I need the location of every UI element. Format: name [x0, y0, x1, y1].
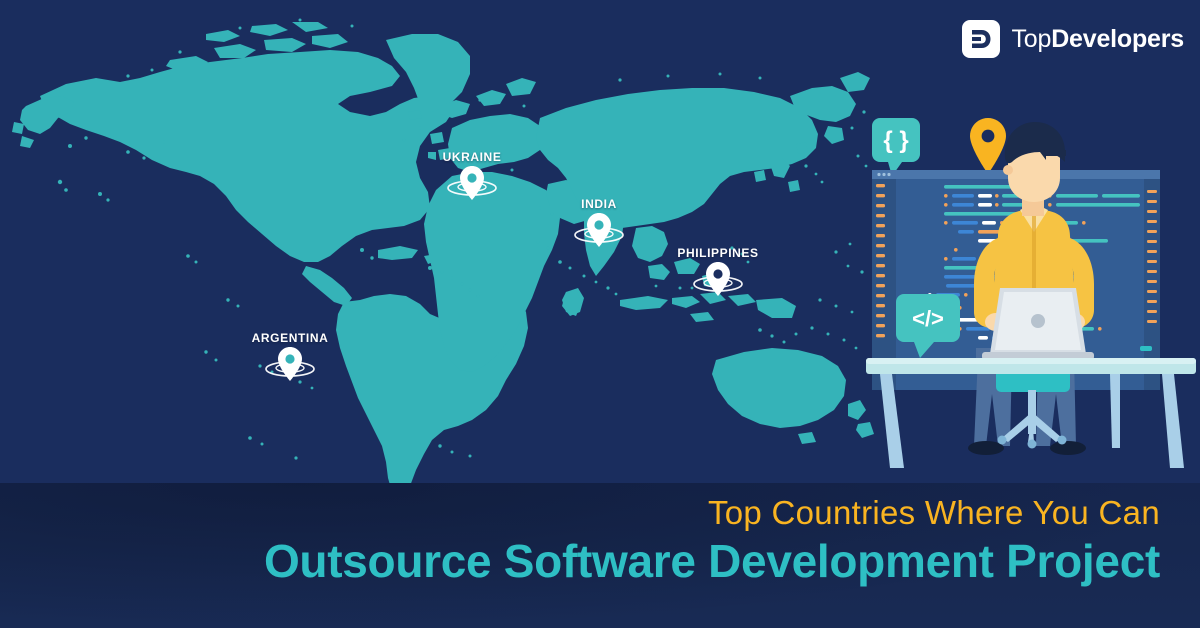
banner-canvas: UKRAINE INDIA PHILIPPINES — [0, 0, 1200, 628]
location-pin-icon — [586, 213, 612, 247]
logo-d-icon — [969, 27, 993, 51]
headline-block: Top Countries Where You Can Outsource So… — [0, 495, 1160, 587]
marker-label: INDIA — [581, 197, 617, 211]
accent-dash — [1140, 346, 1152, 351]
curly-braces-badge: { } — [872, 118, 920, 176]
marker-label: ARGENTINA — [252, 331, 329, 345]
developer-illustration: { } — [862, 108, 1200, 488]
headline-kicker: Top Countries Where You Can — [0, 495, 1160, 532]
laptop-icon — [982, 288, 1094, 360]
logo-wordmark-suffix: Developers — [1051, 25, 1184, 53]
code-tag-text: </> — [912, 306, 944, 331]
brand-logo[interactable]: TopDevelopers — [962, 20, 1184, 58]
logo-wordmark-prefix: Top — [1011, 25, 1051, 53]
pin-yellow-icon — [970, 118, 1006, 174]
location-pin-icon — [705, 262, 731, 296]
shoe-left — [968, 441, 1004, 455]
headline-title: Outsource Software Development Project — [0, 536, 1160, 588]
location-pin-icon — [459, 166, 485, 200]
shoe-right — [1050, 441, 1086, 455]
logo-wordmark: TopDevelopers — [1011, 25, 1184, 54]
location-pin-icon — [277, 347, 303, 381]
curly-braces-text: { } — [883, 127, 908, 154]
logo-mark — [962, 20, 1000, 58]
marker-label: PHILIPPINES — [677, 246, 758, 260]
marker-label: UKRAINE — [443, 150, 502, 164]
